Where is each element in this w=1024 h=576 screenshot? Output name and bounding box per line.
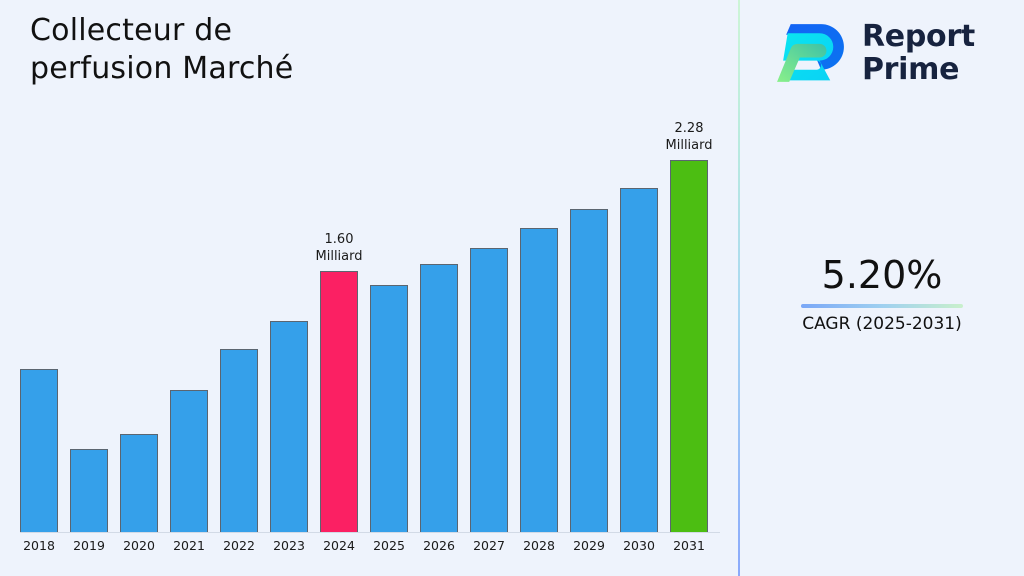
bar-2021 bbox=[170, 390, 208, 532]
x-tick-2029: 2029 bbox=[564, 538, 614, 554]
bar-value-label-2024: 1.60 Milliard bbox=[289, 231, 389, 265]
bar-2027 bbox=[470, 248, 508, 532]
x-tick-2023: 2023 bbox=[264, 538, 314, 554]
right-panel: Report Prime 5.20% CAGR (2025-2031) bbox=[740, 0, 1024, 576]
bar-2029 bbox=[570, 209, 608, 532]
x-tick-2021: 2021 bbox=[164, 538, 214, 554]
x-tick-2018: 2018 bbox=[14, 538, 64, 554]
bar-2022 bbox=[220, 349, 258, 532]
cagr-divider bbox=[801, 304, 963, 308]
bar-2026 bbox=[420, 264, 458, 532]
bar-2020 bbox=[120, 434, 158, 532]
bar-2025 bbox=[370, 285, 408, 532]
brand-wordmark: Report Prime bbox=[862, 20, 975, 86]
x-tick-2031: 2031 bbox=[664, 538, 714, 554]
bar-2018 bbox=[20, 369, 58, 532]
x-axis-line bbox=[20, 532, 720, 533]
x-tick-2022: 2022 bbox=[214, 538, 264, 554]
x-tick-2019: 2019 bbox=[64, 538, 114, 554]
x-tick-2028: 2028 bbox=[514, 538, 564, 554]
x-tick-2030: 2030 bbox=[614, 538, 664, 554]
brand-logo: Report Prime bbox=[774, 10, 1004, 96]
bars-layer: 1.60 Milliard2.28 Milliard bbox=[0, 0, 738, 576]
bar-2030 bbox=[620, 188, 658, 532]
x-tick-2020: 2020 bbox=[114, 538, 164, 554]
x-axis-tick-labels: 2018201920202021202220232024202520262027… bbox=[0, 538, 738, 562]
report-prime-logo-mark bbox=[774, 15, 850, 91]
bar-value-label-2031: 2.28 Milliard bbox=[639, 120, 739, 154]
cagr-value: 5.20% bbox=[740, 252, 1024, 298]
bar-2023 bbox=[270, 321, 308, 532]
x-tick-2026: 2026 bbox=[414, 538, 464, 554]
bar-2019 bbox=[70, 449, 108, 532]
bar-2028 bbox=[520, 228, 558, 532]
cagr-block: 5.20% CAGR (2025-2031) bbox=[740, 252, 1024, 335]
infographic-page: Collecteur de perfusion Marché 1.60 Mill… bbox=[0, 0, 1024, 576]
bar-chart: 1.60 Milliard2.28 Milliard 2018201920202… bbox=[0, 0, 738, 576]
x-tick-2025: 2025 bbox=[364, 538, 414, 554]
cagr-caption: CAGR (2025-2031) bbox=[740, 313, 1024, 335]
bar-2031 bbox=[670, 160, 708, 532]
x-tick-2027: 2027 bbox=[464, 538, 514, 554]
bar-2024 bbox=[320, 271, 358, 532]
x-tick-2024: 2024 bbox=[314, 538, 364, 554]
